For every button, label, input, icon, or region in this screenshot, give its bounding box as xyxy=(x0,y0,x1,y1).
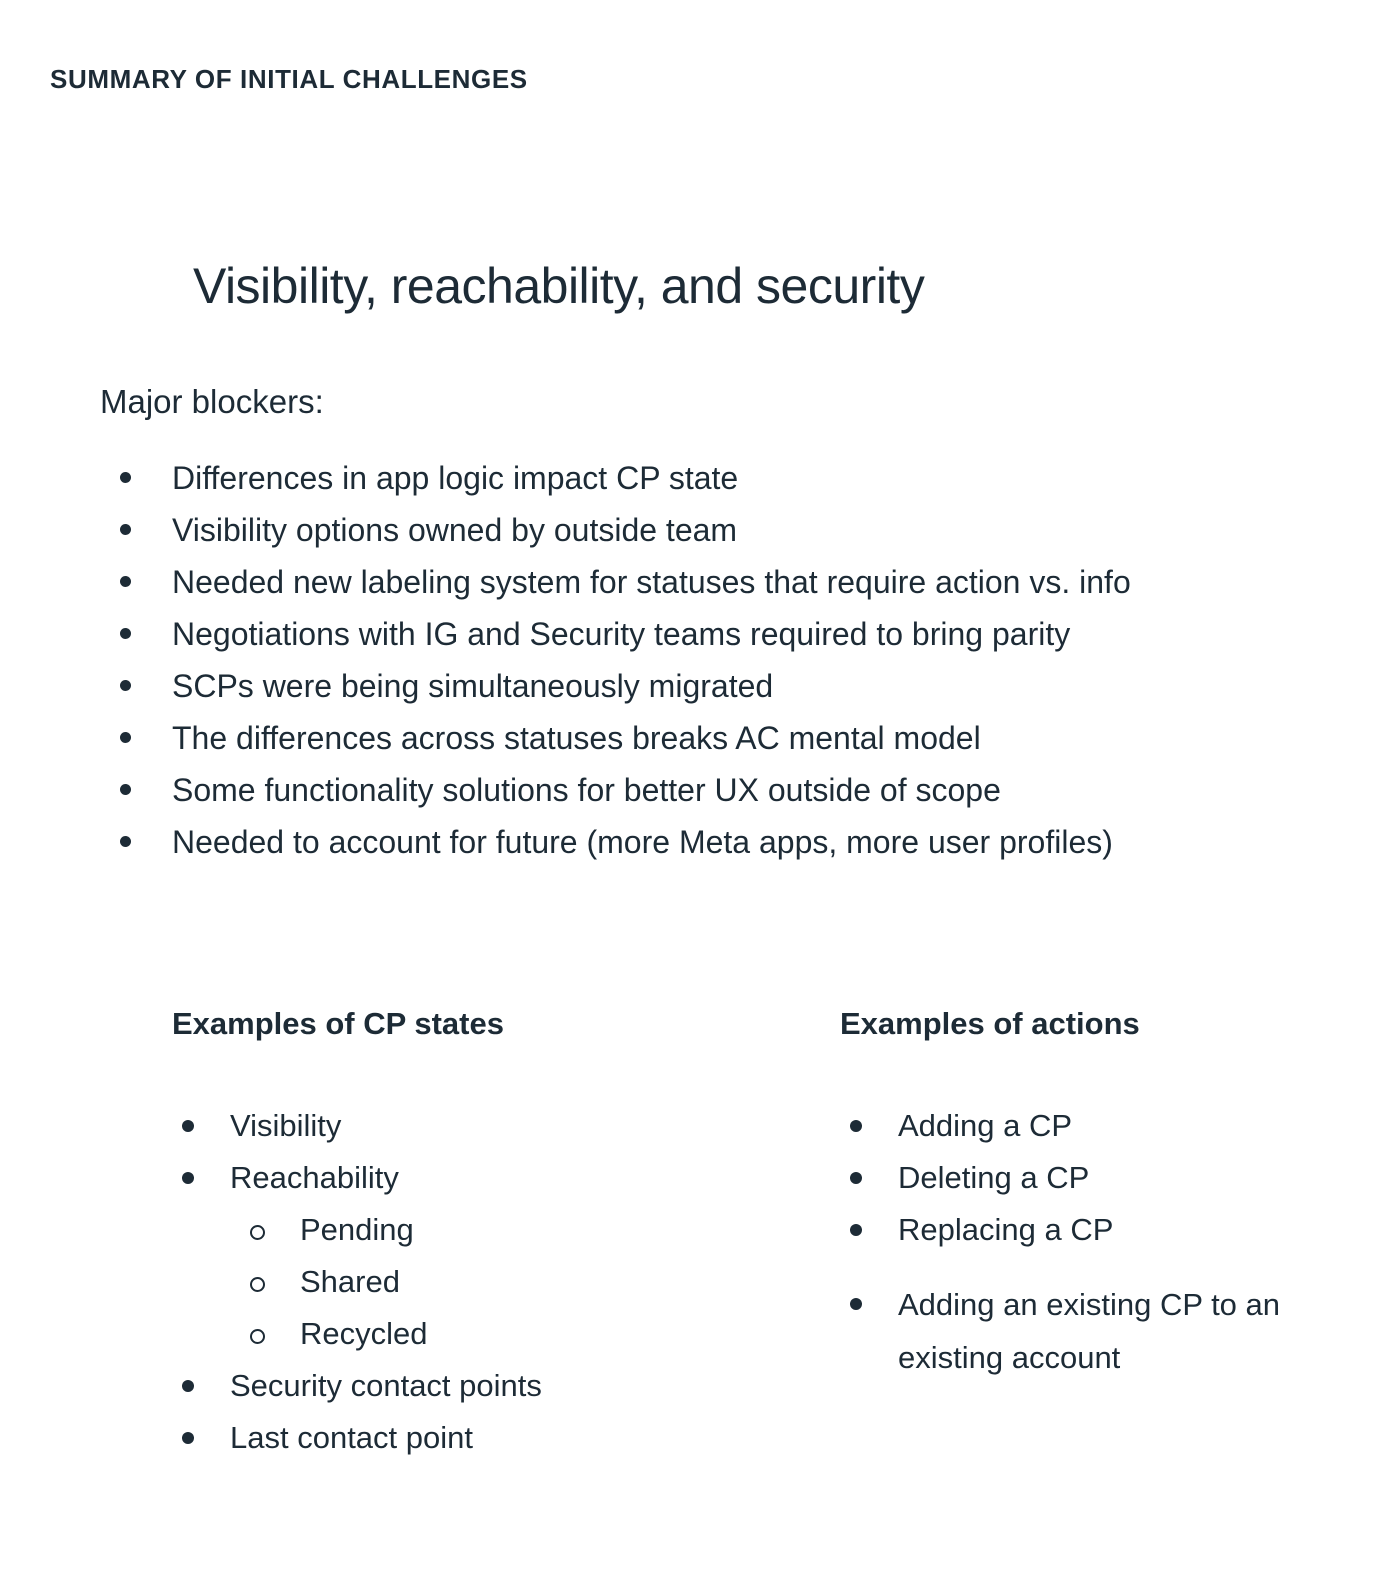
list-item: Security contact points xyxy=(172,1360,792,1412)
list-item-label: Last contact point xyxy=(230,1412,473,1464)
list-item-label: Adding an existing CP to an existing acc… xyxy=(898,1278,1338,1384)
list-item: Negotiations with IG and Security teams … xyxy=(100,608,1370,660)
list-item-label: Needed to account for future (more Meta … xyxy=(172,816,1113,868)
list-item-label: Needed new labeling system for statuses … xyxy=(172,556,1131,608)
list-item: Replacing a CP xyxy=(840,1204,1360,1256)
column-cp-states: Examples of CP states Visibility Reachab… xyxy=(172,1005,792,1464)
page-title: Visibility, reachability, and security xyxy=(193,258,924,316)
list-item: The differences across statuses breaks A… xyxy=(100,712,1370,764)
list-item-label: Replacing a CP xyxy=(898,1204,1113,1256)
column-actions: Examples of actions Adding a CP Deleting… xyxy=(840,1005,1360,1384)
bullet-dot-icon xyxy=(172,1360,230,1412)
bullet-dot-icon xyxy=(840,1204,898,1256)
blockers-list: Differences in app logic impact CP state… xyxy=(100,452,1370,868)
list-item: Differences in app logic impact CP state xyxy=(100,452,1370,504)
list-item: Last contact point xyxy=(172,1412,792,1464)
lead-in-label: Major blockers: xyxy=(100,382,324,422)
bullet-dot-icon xyxy=(172,1412,230,1464)
bullet-dot-icon xyxy=(172,1152,230,1204)
bullet-dot-icon xyxy=(100,660,172,712)
bullet-dot-icon xyxy=(172,1100,230,1152)
list-item-label: Visibility xyxy=(230,1100,341,1152)
bullet-dot-icon xyxy=(100,556,172,608)
bullet-circle-icon xyxy=(242,1308,300,1360)
list-item-label: Recycled xyxy=(300,1308,428,1360)
list-item: Adding a CP xyxy=(840,1100,1360,1152)
column-heading: Examples of CP states xyxy=(172,1005,792,1042)
slide-canvas: SUMMARY OF INITIAL CHALLENGES Visibility… xyxy=(0,0,1400,1574)
list-item-nested: Pending xyxy=(242,1204,792,1256)
bullet-circle-icon xyxy=(242,1256,300,1308)
list-item-label: Reachability xyxy=(230,1152,399,1204)
list-item-label: Visibility options owned by outside team xyxy=(172,504,737,556)
bullet-dot-icon xyxy=(100,608,172,660)
list-item: Reachability xyxy=(172,1152,792,1204)
list-item: SCPs were being simultaneously migrated xyxy=(100,660,1370,712)
bullet-dot-icon xyxy=(840,1152,898,1204)
list-item: Visibility options owned by outside team xyxy=(100,504,1370,556)
list-item-label: Negotiations with IG and Security teams … xyxy=(172,608,1070,660)
bullet-circle-icon xyxy=(242,1204,300,1256)
list-item-label: Adding a CP xyxy=(898,1100,1072,1152)
list-item: Some functionality solutions for better … xyxy=(100,764,1370,816)
list-item-label: SCPs were being simultaneously migrated xyxy=(172,660,773,712)
actions-list: Adding a CP Deleting a CP Replacing a CP… xyxy=(840,1100,1360,1384)
list-item: Adding an existing CP to an existing acc… xyxy=(840,1278,1360,1384)
list-item-label: Some functionality solutions for better … xyxy=(172,764,1001,816)
list-item: Needed to account for future (more Meta … xyxy=(100,816,1370,868)
list-item-label: Shared xyxy=(300,1256,400,1308)
list-item-label: Pending xyxy=(300,1204,414,1256)
list-item-nested: Shared xyxy=(242,1256,792,1308)
bullet-dot-icon xyxy=(100,816,172,868)
bullet-dot-icon xyxy=(100,712,172,764)
bullet-dot-icon xyxy=(100,452,172,504)
list-item-label: Deleting a CP xyxy=(898,1152,1089,1204)
list-item: Visibility xyxy=(172,1100,792,1152)
list-item-label: Security contact points xyxy=(230,1360,542,1412)
bullet-dot-icon xyxy=(100,764,172,816)
cp-states-list: Visibility Reachability Pending Shared R… xyxy=(172,1100,792,1464)
list-item: Deleting a CP xyxy=(840,1152,1360,1204)
bullet-dot-icon xyxy=(840,1100,898,1152)
list-item-label: Differences in app logic impact CP state xyxy=(172,452,738,504)
bullet-dot-icon xyxy=(100,504,172,556)
list-item-nested: Recycled xyxy=(242,1308,792,1360)
list-item: Needed new labeling system for statuses … xyxy=(100,556,1370,608)
column-heading: Examples of actions xyxy=(840,1005,1360,1042)
list-item-label: The differences across statuses breaks A… xyxy=(172,712,981,764)
bullet-dot-icon xyxy=(840,1278,898,1331)
section-eyebrow: SUMMARY OF INITIAL CHALLENGES xyxy=(50,64,528,95)
